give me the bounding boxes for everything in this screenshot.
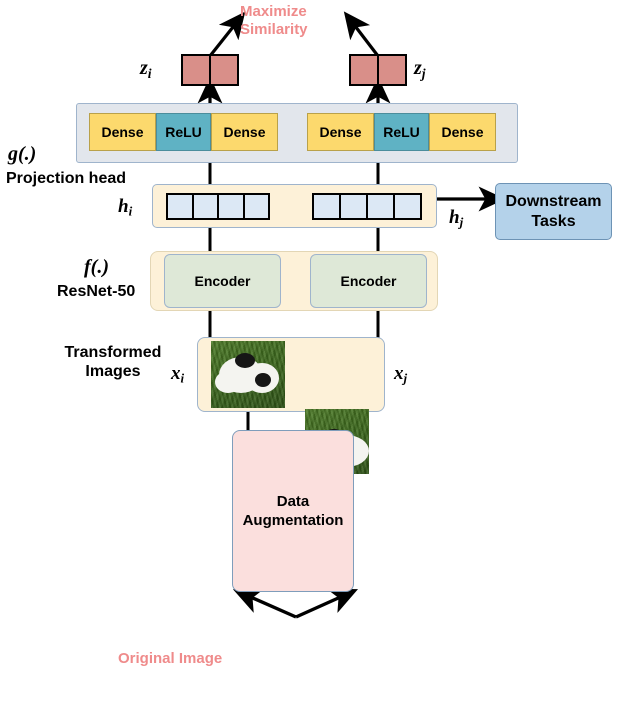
g-arg: (.) <box>18 143 36 165</box>
h-j-symbol: h <box>449 207 460 228</box>
g-symbol: g <box>8 143 18 165</box>
z-cell <box>211 56 237 84</box>
z-i-label: zi <box>140 57 152 82</box>
z-j-vector <box>349 54 407 86</box>
z-j-symbol: z <box>414 57 422 79</box>
h-cell <box>219 195 245 218</box>
dense-block-right-2[interactable]: Dense <box>429 113 496 151</box>
f-symbol: f <box>84 256 91 278</box>
z-i-vector <box>181 54 239 86</box>
x-i-label: xi <box>171 363 184 387</box>
z-cell <box>351 56 379 84</box>
x-i-subscript: i <box>181 371 185 386</box>
h-cell <box>341 195 368 218</box>
diagram-canvas: Maximize Similarity zi zj Dense ReLU Den… <box>0 0 622 701</box>
z-cell <box>183 56 211 84</box>
downstream-tasks-box[interactable]: Downstream Tasks <box>495 183 612 240</box>
relu-block-right[interactable]: ReLU <box>374 113 429 151</box>
original-to-aug-arrow-right <box>296 595 345 617</box>
f-arg: (.) <box>91 256 109 278</box>
h-j-label: hj <box>449 207 463 231</box>
h-i-label: hi <box>118 196 132 220</box>
z-j-label: zj <box>414 57 426 82</box>
relu-block-left[interactable]: ReLU <box>156 113 211 151</box>
z-i-subscript: i <box>148 66 152 81</box>
transformed-images-label: Transformed Images <box>49 344 177 382</box>
encoder-box-right[interactable]: Encoder <box>310 254 427 308</box>
similarity-arrow-right <box>352 22 378 56</box>
x-j-label: xj <box>394 363 407 387</box>
transformed-image-i <box>211 341 285 408</box>
h-cell <box>314 195 341 218</box>
projection-head-name-label: Projection head <box>6 170 126 189</box>
h-i-vector <box>166 193 270 220</box>
original-to-aug-arrow-left <box>246 595 296 617</box>
dog-fur <box>215 371 241 393</box>
z-i-symbol: z <box>140 57 148 79</box>
h-cell <box>194 195 220 218</box>
similarity-arrow-left <box>210 22 237 56</box>
h-cell <box>168 195 194 218</box>
z-cell <box>379 56 405 84</box>
dog-marking <box>235 353 255 368</box>
z-j-subscript: j <box>422 66 426 81</box>
x-i-symbol: x <box>171 363 181 384</box>
maximize-similarity-label: Maximize Similarity <box>240 3 350 38</box>
dog-marking <box>255 373 271 387</box>
data-augmentation-box[interactable]: Data Augmentation <box>232 430 354 592</box>
h-i-symbol: h <box>118 196 129 217</box>
h-cell <box>245 195 269 218</box>
h-j-vector <box>312 193 422 220</box>
dense-block-left-2[interactable]: Dense <box>211 113 278 151</box>
encoder-name-label: ResNet-50 <box>57 283 135 302</box>
encoder-function-label: f(.) <box>84 256 109 279</box>
projection-head-function-label: g(.) <box>8 143 36 166</box>
dense-block-right-1[interactable]: Dense <box>307 113 374 151</box>
x-j-symbol: x <box>394 363 404 384</box>
h-i-subscript: i <box>129 204 133 219</box>
dense-block-left-1[interactable]: Dense <box>89 113 156 151</box>
original-image-label: Original Image <box>118 650 222 668</box>
encoder-box-left[interactable]: Encoder <box>164 254 281 308</box>
h-j-subscript: j <box>460 215 464 230</box>
h-cell <box>368 195 395 218</box>
h-cell <box>395 195 420 218</box>
x-j-subscript: j <box>404 371 408 386</box>
